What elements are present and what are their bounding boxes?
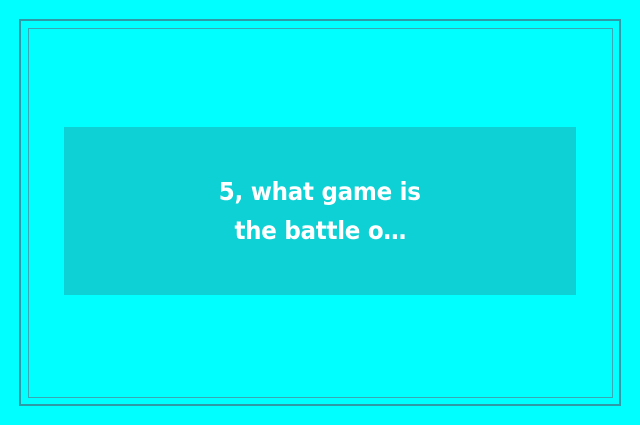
slide-canvas: 5, what game is the battle o… (0, 0, 640, 425)
caption-line-1: 5, what game is (219, 172, 421, 211)
caption-line-2: the battle o… (234, 211, 406, 250)
caption-box: 5, what game is the battle o… (64, 127, 576, 295)
